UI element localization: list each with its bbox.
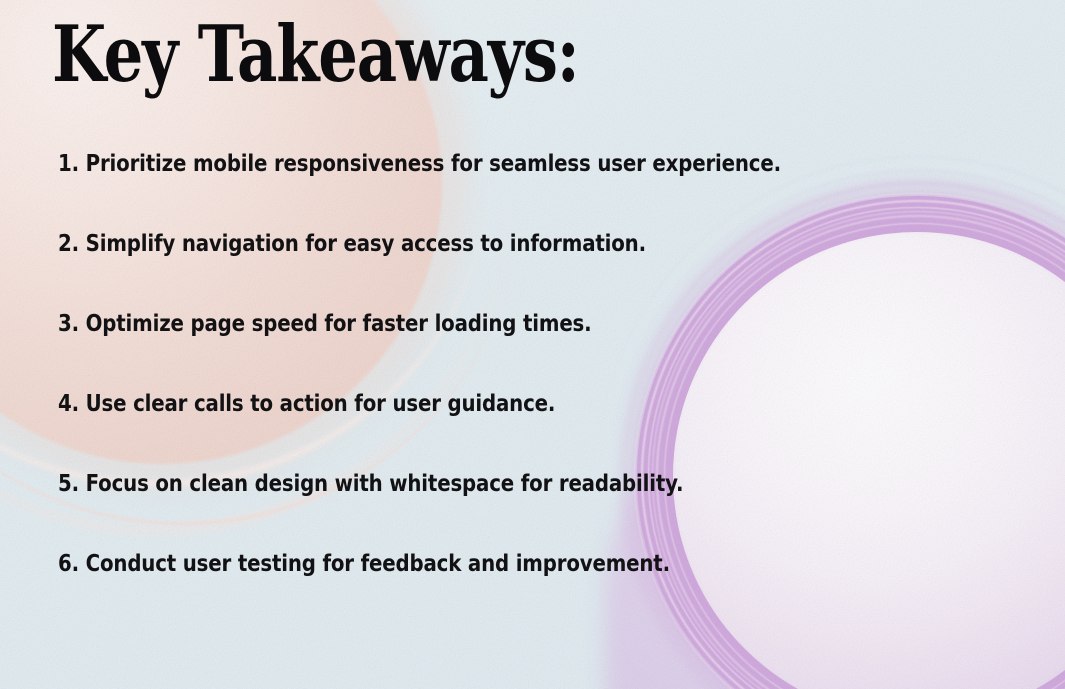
list-item: 4. Use clear calls to action for user gu… xyxy=(58,392,815,472)
list-item: 5. Focus on clean design with whitespace… xyxy=(58,472,815,552)
takeaways-list: 1. Prioritize mobile responsiveness for … xyxy=(58,152,938,632)
list-item: 6. Conduct user testing for feedback and… xyxy=(58,552,815,632)
key-takeaways-slide: Key Takeaways: 1. Prioritize mobile resp… xyxy=(0,0,1065,689)
list-item: 3. Optimize page speed for faster loadin… xyxy=(58,312,815,392)
list-item: 2. Simplify navigation for easy access t… xyxy=(58,232,815,312)
list-item: 1. Prioritize mobile responsiveness for … xyxy=(58,152,815,232)
slide-content: Key Takeaways: 1. Prioritize mobile resp… xyxy=(0,0,1065,689)
page-title: Key Takeaways: xyxy=(52,16,579,94)
